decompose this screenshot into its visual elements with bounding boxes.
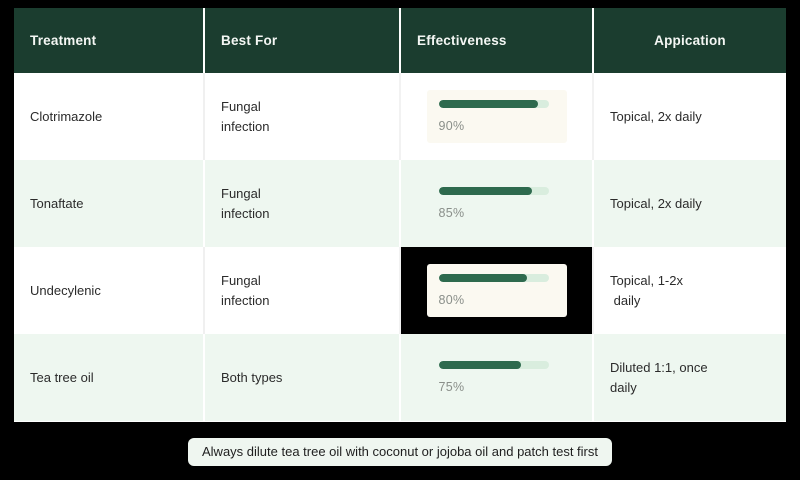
- best-for-line-1: Fungal: [221, 271, 385, 291]
- effectiveness-bar-fill: [439, 361, 522, 369]
- column-header-best-for: Best For: [205, 8, 401, 73]
- application-line-1: Topical, 2x daily: [610, 194, 772, 214]
- column-header-best-for-label: Best For: [221, 33, 277, 48]
- application-line-1: Topical, 2x daily: [610, 107, 772, 127]
- treatment-name: Tonaftate: [30, 194, 189, 214]
- cell-best-for: Fungal infection: [205, 73, 401, 160]
- cell-best-for: Fungal infection: [205, 247, 401, 334]
- treatment-name: Undecylenic: [30, 281, 189, 301]
- effectiveness-card: 85%: [427, 177, 567, 231]
- table-row: Undecylenic Fungal infection 80% Topical…: [14, 247, 786, 334]
- application-line-2: daily: [610, 291, 772, 311]
- treatment-name: Clotrimazole: [30, 107, 189, 127]
- effectiveness-bar-track: [439, 100, 549, 108]
- effectiveness-value-label: 90%: [439, 117, 465, 136]
- effectiveness-bar-track: [439, 274, 549, 282]
- caption-bar: Always dilute tea tree oil with coconut …: [0, 438, 800, 466]
- effectiveness-value-label: 85%: [439, 204, 465, 223]
- cell-treatment: Clotrimazole: [14, 73, 205, 160]
- best-for-line-1: Fungal: [221, 97, 385, 117]
- best-for-line-2: infection: [221, 291, 385, 311]
- effectiveness-bar-track: [439, 187, 549, 195]
- table-row: Clotrimazole Fungal infection 90% Topica…: [14, 73, 786, 160]
- effectiveness-card: 90%: [427, 90, 567, 144]
- column-header-application-label: Appication: [654, 33, 726, 48]
- treatment-comparison-table: Treatment Best For Effectiveness Appicat…: [14, 8, 786, 422]
- application-line-1: Topical, 1-2x: [610, 271, 772, 291]
- cell-application: Diluted 1:1, once daily: [594, 334, 786, 421]
- effectiveness-bar-fill: [439, 274, 527, 282]
- cell-treatment: Tea tree oil: [14, 334, 205, 421]
- column-header-effectiveness-label: Effectiveness: [417, 33, 507, 48]
- caption-text: Always dilute tea tree oil with coconut …: [188, 438, 612, 466]
- effectiveness-value-label: 75%: [439, 378, 465, 397]
- cell-effectiveness: 75%: [401, 334, 594, 421]
- column-header-treatment-label: Treatment: [30, 33, 96, 48]
- table-row: Tonaftate Fungal infection 85% Topical, …: [14, 160, 786, 247]
- best-for-line-2: infection: [221, 204, 385, 224]
- cell-application: Topical, 2x daily: [594, 160, 786, 247]
- best-for-line-2: infection: [221, 117, 385, 137]
- cell-treatment: Tonaftate: [14, 160, 205, 247]
- application-line-2: daily: [610, 378, 772, 398]
- effectiveness-bar-fill: [439, 100, 538, 108]
- table-row: Tea tree oil Both types 75% Diluted 1:1,…: [14, 334, 786, 421]
- effectiveness-bar-fill: [439, 187, 533, 195]
- best-for-line-1: Both types: [221, 368, 385, 388]
- effectiveness-card: 80%: [427, 264, 567, 318]
- cell-effectiveness-highlighted: 80%: [401, 247, 594, 334]
- effectiveness-card: 75%: [427, 351, 567, 405]
- table-header-row: Treatment Best For Effectiveness Appicat…: [14, 8, 786, 73]
- treatment-name: Tea tree oil: [30, 368, 189, 388]
- effectiveness-value-label: 80%: [439, 291, 465, 310]
- application-line-1: Diluted 1:1, once: [610, 358, 772, 378]
- cell-application: Topical, 2x daily: [594, 73, 786, 160]
- cell-best-for: Both types: [205, 334, 401, 421]
- column-header-application: Appication: [594, 8, 786, 73]
- cell-effectiveness: 90%: [401, 73, 594, 160]
- best-for-line-1: Fungal: [221, 184, 385, 204]
- column-header-effectiveness: Effectiveness: [401, 8, 594, 73]
- column-header-treatment: Treatment: [14, 8, 205, 73]
- effectiveness-bar-track: [439, 361, 549, 369]
- cell-best-for: Fungal infection: [205, 160, 401, 247]
- cell-application: Topical, 1-2x daily: [594, 247, 786, 334]
- cell-treatment: Undecylenic: [14, 247, 205, 334]
- cell-effectiveness: 85%: [401, 160, 594, 247]
